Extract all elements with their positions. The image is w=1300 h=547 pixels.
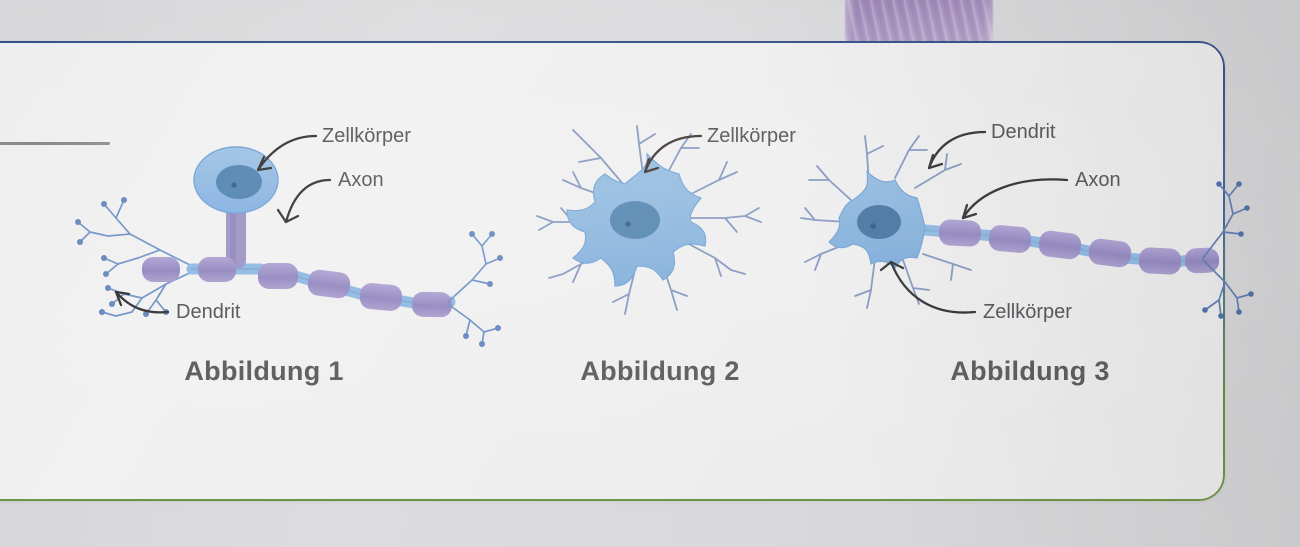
label-zellkoerper: Zellkörper: [983, 301, 1072, 323]
label-axon-leader: [278, 180, 330, 222]
myelin-segments: [938, 219, 1219, 275]
myelin-segments-dendrite-side: [86, 257, 236, 282]
nucleus: [216, 165, 262, 199]
label-dendrit-leader: [929, 132, 985, 168]
label-dendrit: Dendrit: [991, 121, 1056, 143]
figure-3: Dendrit Axon Zellkörper Abbildung 3: [795, 118, 1265, 408]
figure-2-illustration: Zellkörper: [515, 118, 805, 340]
axon-terminal-branches: [1203, 184, 1251, 316]
label-axon: Axon: [338, 169, 384, 191]
nucleus: [610, 201, 660, 239]
soma-stalk-shade: [230, 206, 236, 268]
figure-3-illustration: Dendrit Axon Zellkörper: [795, 118, 1265, 340]
label-zellkoerper: Zellkörper: [707, 125, 796, 147]
label-zellkoerper-leader: [881, 262, 975, 313]
figure-1-illustration: Zellkörper Axon Dendrit: [20, 118, 500, 340]
figure-2: Zellkörper Abbildung 2: [515, 118, 805, 408]
figure-1: Zellkörper Axon Dendrit Abbildung 1: [20, 118, 500, 408]
label-axon: Axon: [1075, 169, 1121, 191]
nucleolus: [231, 182, 236, 187]
nucleolus: [870, 223, 876, 229]
figure-3-caption: Abbildung 3: [795, 356, 1265, 387]
histology-specimen-strip: [845, 0, 993, 42]
nucleolus: [625, 221, 631, 227]
dendrite-branches-left: [78, 200, 196, 316]
nucleus: [857, 205, 901, 239]
label-dendrit: Dendrit: [176, 301, 241, 323]
axon-terminal-branches: [448, 234, 500, 344]
figure-2-caption: Abbildung 2: [515, 356, 805, 387]
label-axon-leader: [963, 179, 1067, 218]
label-zellkoerper: Zellkörper: [322, 125, 411, 147]
figure-1-caption: Abbildung 1: [24, 356, 504, 387]
